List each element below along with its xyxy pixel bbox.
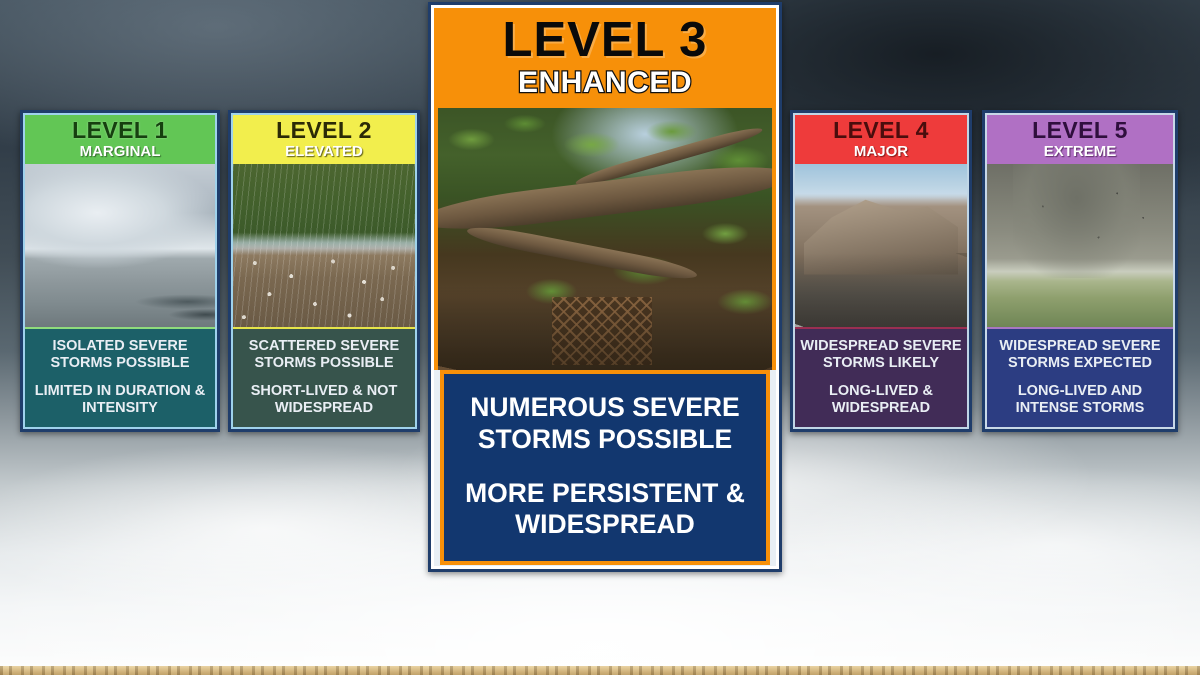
message-line-2-a: SCATTERED SEVERE STORMS POSSIBLE (237, 338, 411, 372)
card-inner-level-3: LEVEL 3 ENHANCED NUMEROUS SEVERE STORMS … (431, 5, 779, 569)
risk-card-level-1[interactable]: LEVEL 1 MARGINAL ISOLATED SEVERE STORMS … (20, 110, 220, 432)
category-label-4: MAJOR (797, 144, 965, 159)
level-label-3: LEVEL 3 (438, 16, 772, 65)
message-line-5-b: LONG-LIVED AND INTENSE STORMS (991, 383, 1169, 417)
card-inner-level-2: LEVEL 2 ELEVATED SCATTERED SEVERE STORMS… (231, 113, 417, 429)
message-line-3-b: MORE PERSISTENT & WIDESPREAD (454, 478, 756, 542)
card-header-level-4: LEVEL 4 MAJOR (795, 115, 967, 164)
ground-strip (0, 666, 1200, 675)
level-label-5: LEVEL 5 (989, 119, 1171, 142)
message-line-1-b: LIMITED IN DURATION & INTENSITY (29, 383, 211, 417)
message-line-3-a: NUMEROUS SEVERE STORMS POSSIBLE (454, 392, 756, 456)
risk-card-level-3-featured[interactable]: LEVEL 3 ENHANCED NUMEROUS SEVERE STORMS … (428, 2, 782, 572)
risk-card-level-4[interactable]: LEVEL 4 MAJOR WIDESPREAD SEVERE STORMS L… (790, 110, 972, 432)
card-inner-level-5: LEVEL 5 EXTREME WIDESPREAD SEVERE STORMS… (985, 113, 1175, 429)
category-label-1: MARGINAL (27, 144, 213, 159)
photo-level-5 (987, 164, 1173, 327)
card-inner-level-4: LEVEL 4 MAJOR WIDESPREAD SEVERE STORMS L… (793, 113, 969, 429)
card-header-level-1: LEVEL 1 MARGINAL (25, 115, 215, 164)
card-header-level-5: LEVEL 5 EXTREME (987, 115, 1173, 164)
message-line-5-a: WIDESPREAD SEVERE STORMS EXPECTED (991, 338, 1169, 372)
category-label-5: EXTREME (989, 144, 1171, 159)
card-inner-level-1: LEVEL 1 MARGINAL ISOLATED SEVERE STORMS … (23, 113, 217, 429)
storm-debris (438, 286, 772, 370)
severe-weather-risk-graphic: LEVEL 1 MARGINAL ISOLATED SEVERE STORMS … (0, 0, 1200, 675)
message-line-1-a: ISOLATED SEVERE STORMS POSSIBLE (29, 338, 211, 372)
card-header-level-3: LEVEL 3 ENHANCED (434, 8, 776, 108)
message-level-5: WIDESPREAD SEVERE STORMS EXPECTED LONG-L… (987, 327, 1173, 427)
level-label-4: LEVEL 4 (797, 119, 965, 142)
message-level-3: NUMEROUS SEVERE STORMS POSSIBLE MORE PER… (440, 370, 770, 565)
risk-card-level-5[interactable]: LEVEL 5 EXTREME WIDESPREAD SEVERE STORMS… (982, 110, 1178, 432)
message-level-2: SCATTERED SEVERE STORMS POSSIBLE SHORT-L… (233, 327, 415, 427)
category-label-2: ELEVATED (235, 144, 413, 159)
message-line-4-b: LONG-LIVED & WIDESPREAD (799, 383, 963, 417)
level-label-1: LEVEL 1 (27, 119, 213, 142)
message-level-1: ISOLATED SEVERE STORMS POSSIBLE LIMITED … (25, 327, 215, 427)
photo-level-3 (434, 108, 776, 370)
card-header-level-2: LEVEL 2 ELEVATED (233, 115, 415, 164)
message-line-2-b: SHORT-LIVED & NOT WIDESPREAD (237, 383, 411, 417)
level-label-2: LEVEL 2 (235, 119, 413, 142)
message-line-4-a: WIDESPREAD SEVERE STORMS LIKELY (799, 338, 963, 372)
risk-card-level-2[interactable]: LEVEL 2 ELEVATED SCATTERED SEVERE STORMS… (228, 110, 420, 432)
photo-level-4 (795, 164, 967, 327)
message-level-4: WIDESPREAD SEVERE STORMS LIKELY LONG-LIV… (795, 327, 967, 427)
photo-level-2 (233, 164, 415, 327)
category-label-3: ENHANCED (438, 68, 772, 98)
photo-level-1 (25, 164, 215, 327)
